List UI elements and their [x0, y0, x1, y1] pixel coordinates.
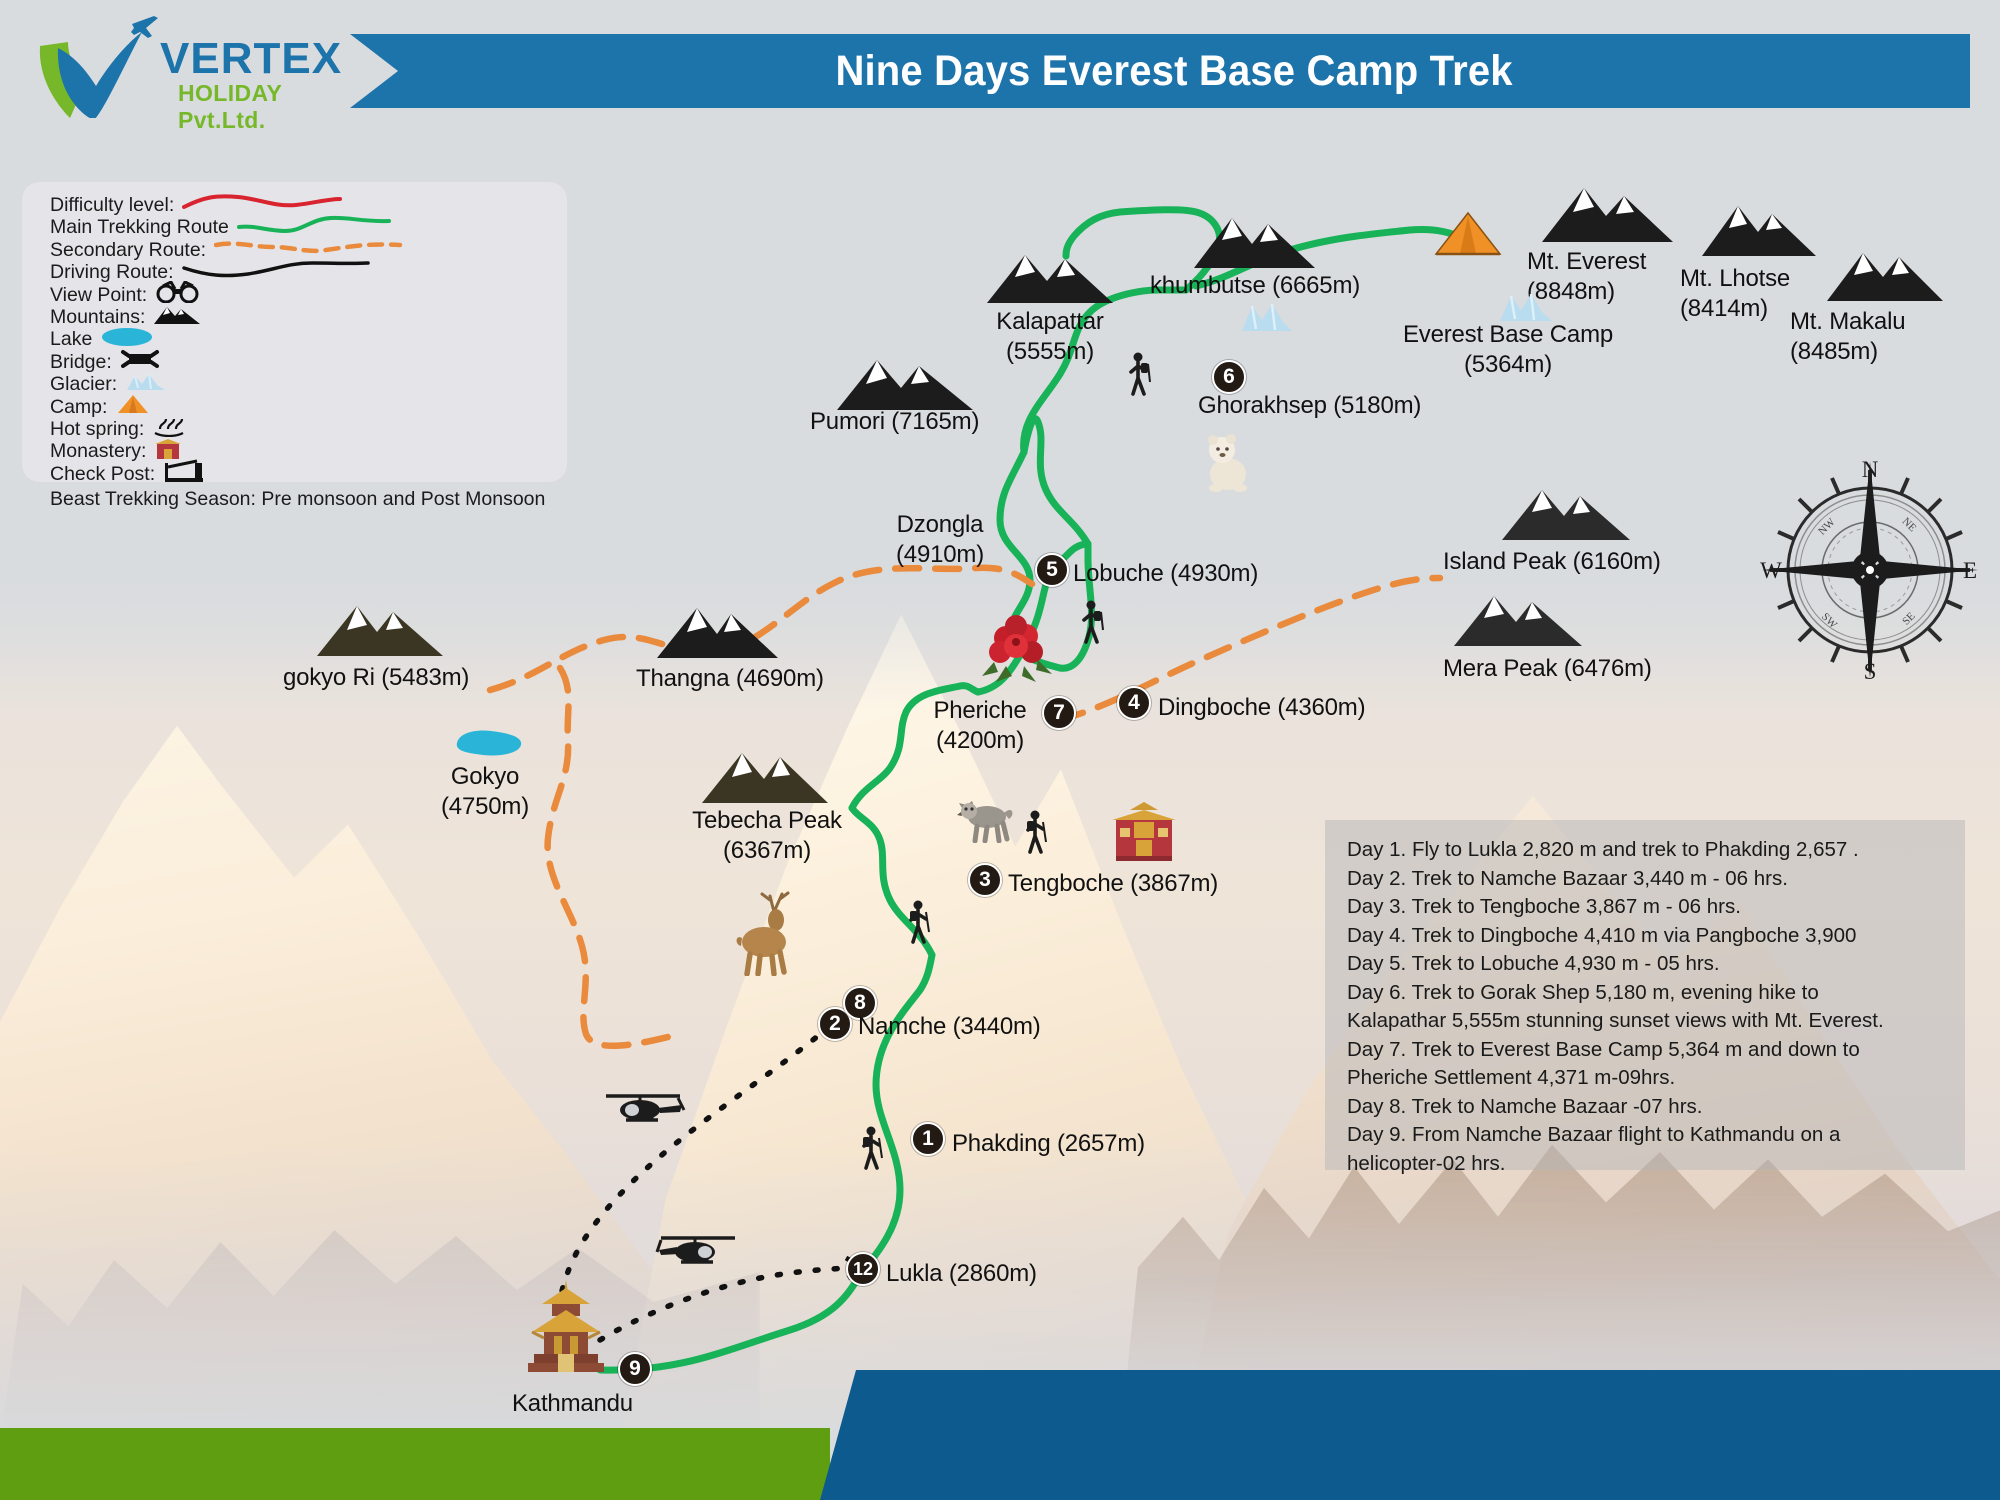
route-node-4[interactable]: 4 — [1117, 686, 1151, 720]
compass-label-w: W — [1760, 558, 1782, 583]
legend-season-note: Beast Trekking Season: Pre monsoon and P… — [50, 488, 567, 510]
peak-label-mera: Mera Peak (6476m) — [1443, 655, 1652, 683]
place-label-pheriche: Pheriche (4200m) — [915, 696, 1045, 756]
itinerary-line: Day 3. Trek to Tengboche 3,867 m - 06 hr… — [1347, 893, 1943, 922]
place-label-namche: Namche (3440m) — [858, 1013, 1041, 1041]
legend-label: Glacier: — [50, 373, 117, 395]
brand-tagline: HOLIDAY Pvt.Ltd. — [178, 80, 360, 134]
brand-name: VERTEX — [160, 34, 342, 84]
route-node-5[interactable]: 5 — [1035, 553, 1069, 587]
legend-item-driving-route: Driving Route: — [50, 261, 567, 283]
wolf-icon — [955, 795, 1015, 848]
legend-item-camp: Camp: — [50, 396, 567, 418]
compass-label-s: S — [1864, 659, 1877, 684]
mountain-icon-makalu — [1825, 245, 1945, 308]
helicopter-icon-lukla — [655, 1222, 741, 1273]
mountain-icon — [153, 303, 201, 330]
place-label-ghorakhsep: Ghorakhsep (5180m) — [1198, 392, 1421, 420]
tent-icon — [115, 393, 151, 420]
footer-band-blue — [820, 1370, 2000, 1500]
itinerary-line: Day 6. Trek to Gorak Shep 5,180 m, eveni… — [1347, 979, 1943, 1036]
compass-rose: N E S W NE SE SW NW — [1755, 455, 1985, 685]
legend-item-monastery: Monastery: — [50, 440, 567, 462]
route-node-7[interactable]: 7 — [1042, 696, 1076, 730]
footer-band-green — [0, 1428, 830, 1500]
mountain-icon-thangna — [655, 602, 780, 665]
itinerary-line: Day 4. Trek to Dingboche 4,410 m via Pan… — [1347, 922, 1943, 951]
legend-item-check-post: Check Post: — [50, 463, 567, 485]
compass-label-n: N — [1862, 457, 1879, 482]
legend-item-difficulty: Difficulty level: — [50, 194, 567, 216]
peak-label-tebecha: Tebecha Peak (6367m) — [672, 806, 862, 866]
legend-item-secondary-route: Secondary Route: — [50, 239, 567, 261]
peak-label-pumori: Pumori (7165m) — [810, 408, 979, 436]
helicopter-icon-namche — [600, 1080, 686, 1131]
peak-label-island: Island Peak (6160m) — [1443, 548, 1661, 576]
legend-item-main-route: Main Trekking Route — [50, 216, 567, 238]
legend-label: Camp: — [50, 396, 107, 418]
glacier-icon-khumbu — [1240, 300, 1294, 339]
route-dingboche-lobuche — [1024, 419, 1088, 544]
mountain-icon-mera-peak — [1452, 588, 1584, 653]
peak-label-khumbutse: khumbutse (6665m) — [1150, 272, 1360, 300]
legend-item-view-point: View Point: — [50, 284, 567, 306]
itinerary-line: Day 7. Trek to Everest Base Camp 5,364 m… — [1347, 1036, 1943, 1093]
peak-label-gokyo-ri: gokyo Ri (5483m) — [283, 664, 469, 692]
hiker-icon-lobuche — [1078, 600, 1106, 649]
legend-label: Bridge: — [50, 351, 112, 373]
black-wavy-line-icon — [182, 260, 372, 285]
itinerary-panel: Day 1. Fly to Lukla 2,820 m and trek to … — [1325, 820, 1965, 1170]
compass-label-se: SE — [1900, 610, 1918, 628]
trek-map-infographic: VERTEX HOLIDAY Pvt.Ltd. Nine Days Everes… — [0, 0, 2000, 1500]
place-label-ebc: Everest Base Camp (5364m) — [1378, 320, 1638, 380]
rhododendron-flower-icon — [980, 612, 1056, 691]
compass-label-nw: NW — [1816, 516, 1838, 538]
place-label-dingboche: Dingboche (4360m) — [1158, 694, 1365, 722]
deer-icon — [730, 890, 810, 981]
legend-label: Lake — [50, 328, 92, 350]
peak-label-thangna: Thangna (4690m) — [636, 665, 824, 693]
mountain-icon-khumbutse — [1192, 212, 1317, 275]
legend-label: Hot spring: — [50, 418, 144, 440]
route-node-3[interactable]: 3 — [968, 863, 1002, 897]
hiker-icon-kalapattar — [1125, 352, 1153, 401]
peak-label-lhotse: Mt. Lhotse (8414m) — [1680, 264, 1790, 324]
legend-label: Secondary Route: — [50, 239, 206, 261]
place-label-lukla: Lukla (2860m) — [886, 1260, 1037, 1288]
legend-panel: Difficulty level: Main Trekking Route Se… — [22, 182, 567, 482]
route-node-12[interactable]: 12 — [846, 1252, 880, 1286]
legend-label: Main Trekking Route — [50, 216, 229, 238]
itinerary-line: Day 5. Trek to Lobuche 4,930 m - 05 hrs. — [1347, 950, 1943, 979]
hiker-icon-tengboche — [1022, 810, 1050, 859]
itinerary-line: Day 9. From Namche Bazaar flight to Kath… — [1347, 1121, 1943, 1178]
itinerary-line: Day 8. Trek to Namche Bazaar -07 hrs. — [1347, 1093, 1943, 1122]
airplane-icon — [131, 16, 158, 38]
mountain-icon-lhotse — [1700, 200, 1818, 263]
place-label-dzongla: Dzongla (4910m) — [860, 510, 1020, 570]
mountain-icon-kalapattar — [985, 247, 1115, 310]
legend-label: Difficulty level: — [50, 194, 174, 216]
mountain-icon-gokyo-ri — [315, 600, 445, 663]
brand-logo[interactable]: VERTEX HOLIDAY Pvt.Ltd. — [30, 8, 360, 118]
place-label-phakding: Phakding (2657m) — [952, 1130, 1145, 1158]
header-banner: Nine Days Everest Base Camp Trek — [350, 34, 1970, 108]
monastery-icon-tengboche — [1110, 800, 1178, 867]
itinerary-line: Day 1. Fly to Lukla 2,820 m and trek to … — [1347, 836, 1943, 865]
vertex-v-icon — [30, 8, 170, 118]
route-node-1[interactable]: 1 — [911, 1122, 945, 1156]
temple-icon-kathmandu — [518, 1278, 614, 1383]
place-label-tengboche: Tengboche (3867m) — [1008, 870, 1218, 898]
itinerary-line: Day 2. Trek to Namche Bazaar 3,440 m - 0… — [1347, 865, 1943, 894]
legend-item-hot-spring: Hot spring: — [50, 418, 567, 440]
glacier-icon-ebc — [1498, 290, 1554, 329]
compass-label-e: E — [1963, 558, 1977, 583]
snow-bear-icon — [1198, 432, 1260, 497]
mountain-icon-everest — [1540, 182, 1675, 249]
place-label-gokyo: Gokyo (4750m) — [400, 762, 570, 822]
mountain-icon-island-peak — [1500, 482, 1632, 547]
place-label-lobuche: Lobuche (4930m) — [1073, 560, 1258, 588]
hiker-icon-namche-trail — [905, 900, 933, 949]
route-node-6[interactable]: 6 — [1212, 360, 1246, 394]
legend-label: View Point: — [50, 284, 147, 306]
lake-icon-gokyo — [453, 725, 525, 764]
check-post-icon — [163, 459, 205, 488]
mountain-icon-tebecha-peak — [700, 745, 830, 810]
place-label-kathmandu: Kathmandu — [512, 1390, 633, 1418]
legend-label: Check Post: — [50, 463, 155, 485]
tent-icon-ebc — [1432, 210, 1504, 265]
route-node-9[interactable]: 9 — [618, 1352, 652, 1386]
legend-label: Monastery: — [50, 440, 146, 462]
peak-label-kalapattar: Kalapattar (5555m) — [975, 307, 1125, 367]
peak-label-makalu: Mt. Makalu (8485m) — [1790, 307, 1905, 367]
page-title: Nine Days Everest Base Camp Trek — [807, 47, 1512, 96]
hiker-icon-phakding — [858, 1126, 886, 1175]
compass-label-ne: NE — [1900, 515, 1919, 534]
